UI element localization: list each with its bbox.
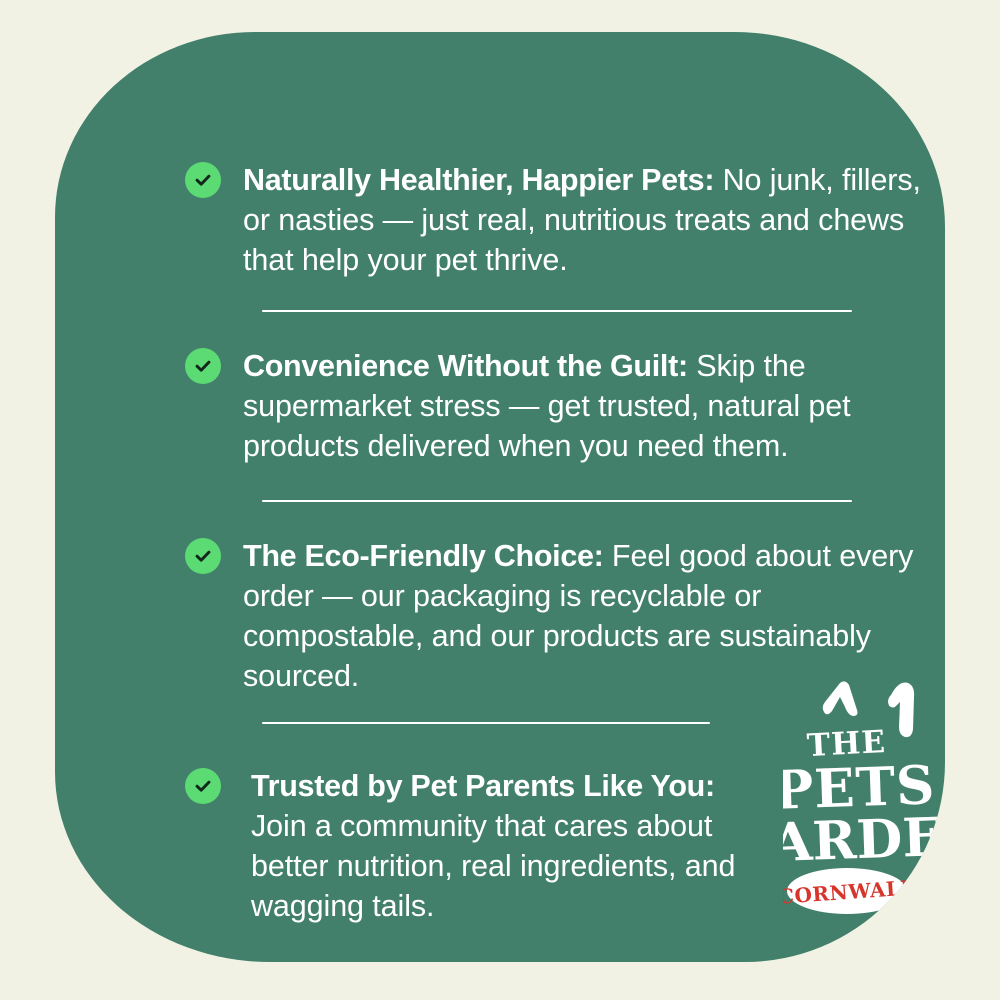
benefit-text: Naturally Healthier, Happier Pets: No ju…	[243, 160, 925, 280]
logo-line-larder: LARDER	[783, 805, 945, 876]
benefits-card: Naturally Healthier, Happier Pets: No ju…	[55, 32, 945, 962]
check-circle-icon	[185, 768, 221, 804]
benefit-lead: Trusted by Pet Parents Like You:	[251, 769, 715, 803]
benefit-lead: The Eco-Friendly Choice:	[243, 539, 604, 573]
benefit-lead: Convenience Without the Guilt:	[243, 349, 688, 383]
benefit-divider	[262, 310, 852, 312]
brand-logo[interactable]: THE PETS LARDER CORNWALL	[783, 650, 945, 915]
check-circle-icon	[185, 162, 221, 198]
logo-cornwall-badge: CORNWALL	[783, 868, 916, 914]
check-circle-icon	[185, 348, 221, 384]
benefit-lead: Naturally Healthier, Happier Pets:	[243, 163, 714, 197]
page-root: Naturally Healthier, Happier Pets: No ju…	[0, 0, 1000, 1000]
benefit-divider	[262, 722, 710, 724]
benefit-body: Join a community that cares about better…	[251, 809, 735, 923]
benefit-text: Trusted by Pet Parents Like You: Join a …	[251, 766, 751, 926]
benefit-divider	[262, 500, 852, 502]
benefit-item: Naturally Healthier, Happier Pets: No ju…	[185, 160, 925, 280]
logo-ear-right	[888, 683, 914, 738]
logo-ear-left	[823, 681, 858, 716]
benefit-item: Trusted by Pet Parents Like You: Join a …	[185, 766, 765, 926]
benefit-item: Convenience Without the Guilt: Skip the …	[185, 346, 935, 466]
check-circle-icon	[185, 538, 221, 574]
benefit-text: Convenience Without the Guilt: Skip the …	[243, 346, 935, 466]
